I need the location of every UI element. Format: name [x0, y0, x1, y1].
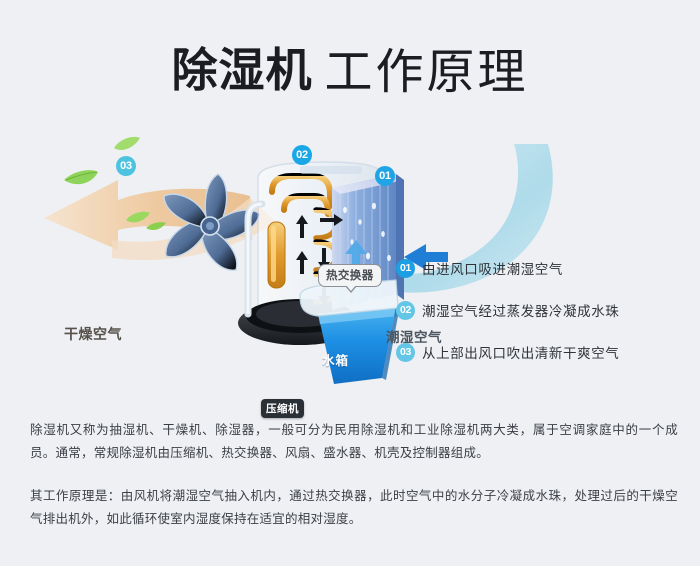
label-dry-air: 干燥空气 — [64, 324, 122, 344]
title-bold-part: 除湿机 — [171, 43, 312, 97]
body-paragraph-1: 除湿机又称为抽湿机、干燥机、除湿器，一般可分为民用除湿机和工业除湿机两大类，属于… — [30, 418, 678, 464]
legend-text-02: 潮湿空气经过蒸发器冷凝成水珠 — [422, 300, 619, 320]
title-light-part: 工作原理 — [324, 44, 528, 100]
legend-badge-02: 02 — [396, 301, 415, 320]
page-title: 除湿机工作原理 — [0, 32, 700, 102]
callout-heat-exchanger: 热交换器 — [318, 264, 382, 287]
legend-item-03: 03 从上部出风口吹出清新干爽空气 — [396, 338, 686, 366]
diagram-badge-03: 03 — [116, 156, 136, 176]
legend-badge-03: 03 — [396, 343, 415, 362]
body-paragraph-2: 其工作原理是：由风机将潮湿空气抽入机内，通过热交换器，此时空气中的水分子冷凝成水… — [30, 484, 678, 530]
legend-item-01: 01 由进风口吸进潮湿空气 — [396, 254, 686, 282]
legend-list: 01 由进风口吸进潮湿空气 02 潮湿空气经过蒸发器冷凝成水珠 03 从上部出风… — [396, 254, 686, 380]
diagram-badge-02: 02 — [292, 145, 312, 165]
legend-text-03: 从上部出风口吹出清新干爽空气 — [422, 342, 619, 362]
body-copy: 除湿机又称为抽湿机、干燥机、除湿器，一般可分为民用除湿机和工业除湿机两大类，属于… — [30, 418, 678, 530]
legend-item-02: 02 潮湿空气经过蒸发器冷凝成水珠 — [396, 296, 686, 324]
diagram-badge-01: 01 — [375, 166, 395, 186]
legend-badge-01: 01 — [396, 259, 415, 278]
label-water-tank: 水箱 — [322, 350, 349, 369]
infographic-page: 除湿机工作原理 — [0, 0, 700, 566]
legend-text-01: 由进风口吸进潮湿空气 — [422, 258, 563, 278]
outlet-grill — [300, 166, 362, 174]
accumulator-cylinder — [268, 222, 285, 288]
label-compressor: 压缩机 — [261, 399, 304, 418]
